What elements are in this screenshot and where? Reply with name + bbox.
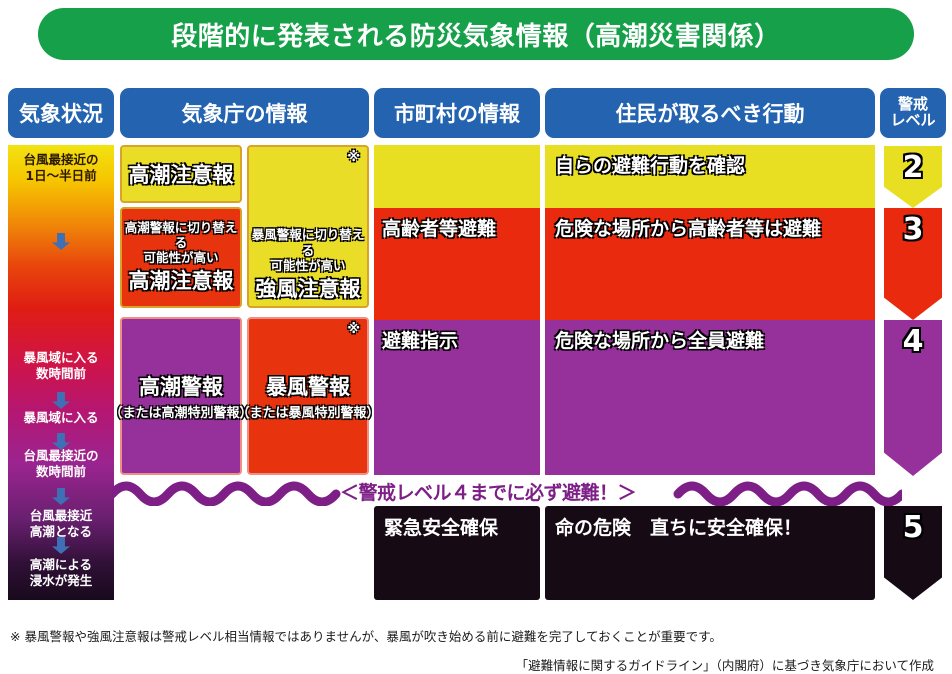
weather-step-3: 台風最接近の 数時間前 bbox=[8, 448, 114, 479]
jma-info-column: 高潮注意報 高潮警報に切り替える 可能性が高い 高潮注意報 高潮警報 （または高… bbox=[120, 145, 369, 475]
municipality-level4-row: 避難指示 bbox=[374, 320, 540, 475]
jma-high-tide-advisory-upgrade-box: 高潮警報に切り替える 可能性が高い 高潮注意報 bbox=[120, 207, 242, 308]
header-resident-action-label: 住民が取るべき行動 bbox=[616, 98, 805, 128]
resident-level4-row: 危険な場所から全員避難 bbox=[545, 320, 875, 475]
warning-level-3-number: 3 bbox=[903, 212, 924, 247]
jma-high-tide-advisory-box: 高潮注意報 bbox=[120, 145, 242, 203]
municipality-level2-row bbox=[374, 145, 540, 208]
municipality-level3-label: 高齢者等避難 bbox=[382, 214, 496, 241]
resident-level5-row: 命の危険 直ちに安全確保！ bbox=[545, 506, 875, 600]
jma-storm-warning-title: 暴風警報 bbox=[266, 371, 350, 401]
municipality-level5-row: 緊急安全確保 bbox=[374, 506, 540, 600]
down-arrow-icon bbox=[52, 537, 70, 554]
header-weather-situation-label: 気象状況 bbox=[19, 98, 103, 128]
jma-storm-warning-box: ※ 暴風警報 （または暴風特別警報） bbox=[247, 317, 369, 475]
resident-level3-label: 危険な場所から高齢者等は避難 bbox=[555, 214, 821, 241]
warning-level-5-arrow: 5 bbox=[884, 506, 942, 600]
header-municipality-info: 市町村の情報 bbox=[374, 88, 540, 138]
municipality-level4-label: 避難指示 bbox=[382, 326, 458, 353]
resident-level3-row: 危険な場所から高齢者等は避難 bbox=[545, 208, 875, 320]
jma-high-tide-warning-box: 高潮警報 （または高潮特別警報） bbox=[120, 317, 242, 475]
weather-step-5: 高潮による 浸水が発生 bbox=[8, 557, 114, 588]
resident-level2-label: 自らの避難行動を確認 bbox=[555, 151, 745, 178]
header-jma-info: 気象庁の情報 bbox=[120, 88, 369, 138]
warning-level-4-number: 4 bbox=[903, 324, 924, 359]
jma-strong-wind-advisory-title: 強風注意報 bbox=[256, 273, 361, 303]
jma-high-tide-advisory-title: 高潮注意報 bbox=[129, 159, 234, 189]
jma-high-tide-advisory-upgrade-note: 高潮警報に切り替える 可能性が高い bbox=[122, 220, 240, 266]
asterisk-icon: ※ bbox=[347, 150, 360, 165]
municipality-info-column: 高齢者等避難 避難指示 bbox=[374, 145, 540, 475]
down-arrow-icon bbox=[52, 233, 70, 250]
jma-high-tide-warning-sub: （または高潮特別警報） bbox=[110, 402, 253, 421]
weather-step-2: 暴風域に入る bbox=[8, 410, 114, 426]
footnote-asterisk: ※ 暴風警報や強風注意報は警戒レベル相当情報ではありませんが、暴風が吹き始める前… bbox=[10, 626, 722, 645]
asterisk-icon: ※ bbox=[347, 322, 360, 337]
page-title: 段階的に発表される防災気象情報（高潮災害関係） bbox=[171, 16, 781, 53]
jma-storm-warning-sub: （または暴風特別警報） bbox=[237, 402, 380, 421]
header-jma-info-label: 気象庁の情報 bbox=[182, 98, 308, 128]
resident-level4-label: 危険な場所から全員避難 bbox=[555, 326, 764, 353]
weather-step-1: 暴風域に入る 数時間前 bbox=[8, 350, 114, 381]
header-warning-level: 警戒 レベル bbox=[880, 88, 946, 138]
jma-strong-wind-advisory-box: ※ 暴風警報に切り替える 可能性が高い 強風注意報 bbox=[247, 145, 369, 308]
weather-step-0: 台風最接近の 1日～半日前 bbox=[8, 152, 114, 183]
header-weather-situation: 気象状況 bbox=[8, 88, 114, 138]
warning-level-2-number: 2 bbox=[903, 150, 924, 185]
footnote-source: 「避難情報に関するガイドライン」（内閣府）に基づき気象庁において作成 bbox=[516, 655, 934, 674]
jma-strong-wind-note: 暴風警報に切り替える 可能性が高い bbox=[249, 227, 367, 273]
resident-level5-label: 命の危険 直ちに安全確保！ bbox=[555, 513, 802, 540]
header-resident-action: 住民が取るべき行動 bbox=[545, 88, 875, 138]
header-warning-level-line2: レベル bbox=[890, 113, 935, 129]
down-arrow-icon bbox=[52, 488, 70, 505]
infographic-root: 段階的に発表される防災気象情報（高潮災害関係） 気象状況 気象庁の情報 市町村の… bbox=[0, 0, 952, 674]
header-municipality-info-label: 市町村の情報 bbox=[394, 98, 520, 128]
resident-level2-row: 自らの避難行動を確認 bbox=[545, 145, 875, 208]
warning-level-4-arrow: 4 bbox=[884, 320, 942, 476]
weather-step-4: 台風最接近 高潮となる bbox=[8, 508, 114, 539]
down-arrow-icon bbox=[52, 392, 70, 409]
jma-high-tide-warning-title: 高潮警報 bbox=[139, 371, 223, 401]
page-title-banner: 段階的に発表される防災気象情報（高潮災害関係） bbox=[38, 8, 914, 60]
resident-action-column: 自らの避難行動を確認 危険な場所から高齢者等は避難 危険な場所から全員避難 bbox=[545, 145, 875, 475]
warning-level-2-arrow: 2 bbox=[884, 146, 942, 208]
jma-high-tide-advisory-upgrade-title: 高潮注意報 bbox=[129, 265, 234, 295]
municipality-level5-label: 緊急安全確保 bbox=[384, 513, 498, 540]
evacuation-banner-label: ＜警戒レベル４までに必ず避難！＞ bbox=[338, 478, 638, 505]
warning-level-5-number: 5 bbox=[903, 510, 924, 545]
weather-situation-column: 台風最接近の 1日～半日前 暴風域に入る 数時間前 暴風域に入る 台風最接近の … bbox=[8, 145, 114, 600]
municipality-level3-row: 高齢者等避難 bbox=[374, 208, 540, 320]
warning-level-3-arrow: 3 bbox=[884, 208, 942, 320]
